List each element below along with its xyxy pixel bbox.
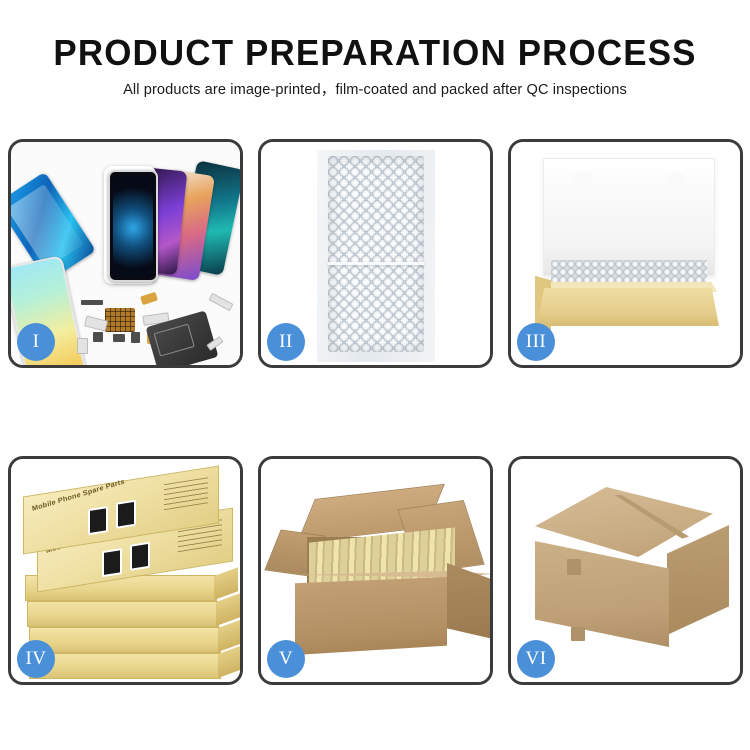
page-subtitle: All products are image-printed，film-coat… bbox=[0, 73, 750, 100]
process-step-card-6[interactable]: VI bbox=[508, 456, 743, 685]
step-1-image: I bbox=[11, 142, 240, 365]
part-connector-strip bbox=[81, 300, 103, 305]
step-6-image: VI bbox=[511, 459, 740, 682]
retail-box-layer-5 bbox=[29, 653, 221, 679]
retail-box-spec-lines-top bbox=[164, 477, 208, 510]
mailer-box-front bbox=[537, 288, 719, 326]
mailer-lid-tab-right bbox=[666, 173, 688, 193]
mailer-lid-tab-left bbox=[570, 173, 592, 193]
step-badge-4: IV bbox=[17, 640, 55, 678]
part-small-chip-b bbox=[113, 334, 125, 342]
retail-box-layer-4 bbox=[29, 627, 221, 653]
process-step-card-5[interactable]: V bbox=[258, 456, 493, 685]
page-header: PRODUCT PREPARATION PROCESS All products… bbox=[0, 0, 750, 99]
step-4-image: Mobile Phone Spare Parts Mobile Phone Sp… bbox=[11, 459, 240, 682]
part-camera-module bbox=[77, 338, 88, 354]
step-3-image: III bbox=[511, 142, 740, 365]
sealed-carton-tape-upper bbox=[567, 559, 581, 575]
retail-box-screenshot-c bbox=[102, 548, 122, 577]
step-badge-3: III bbox=[517, 323, 555, 361]
step-badge-1: I bbox=[17, 323, 55, 361]
sealed-carton-tape-lower bbox=[571, 627, 585, 641]
page-title: PRODUCT PREPARATION PROCESS bbox=[11, 0, 739, 73]
retail-box-screenshot-b bbox=[116, 500, 136, 529]
step-5-image: V bbox=[261, 459, 490, 682]
step-badge-6: VI bbox=[517, 640, 555, 678]
process-step-card-2[interactable]: II bbox=[258, 139, 493, 368]
step-badge-5: V bbox=[267, 640, 305, 678]
bubble-wrap-seam bbox=[328, 262, 424, 265]
carton-front-panel bbox=[295, 577, 447, 655]
retail-box-screenshot-a bbox=[88, 506, 108, 535]
process-step-card-4[interactable]: Mobile Phone Spare Parts Mobile Phone Sp… bbox=[8, 456, 243, 685]
step-2-image: II bbox=[261, 142, 490, 365]
bubble-wrap-bubbles bbox=[328, 156, 424, 352]
part-small-chip-a bbox=[93, 332, 103, 342]
retail-box-layer-3 bbox=[27, 601, 219, 627]
part-mesh-grill bbox=[105, 308, 135, 332]
process-step-card-1[interactable]: I bbox=[8, 139, 243, 368]
phone-display-black bbox=[108, 170, 158, 282]
process-steps-grid: I II III bbox=[8, 139, 743, 685]
process-step-card-3[interactable]: III bbox=[508, 139, 743, 368]
step-badge-2: II bbox=[267, 323, 305, 361]
retail-box-screenshot-d bbox=[130, 542, 150, 571]
mailer-box-lid bbox=[543, 158, 715, 276]
retail-box-label-top: Mobile Phone Spare Parts bbox=[31, 477, 125, 513]
part-small-chip-c bbox=[131, 332, 140, 343]
